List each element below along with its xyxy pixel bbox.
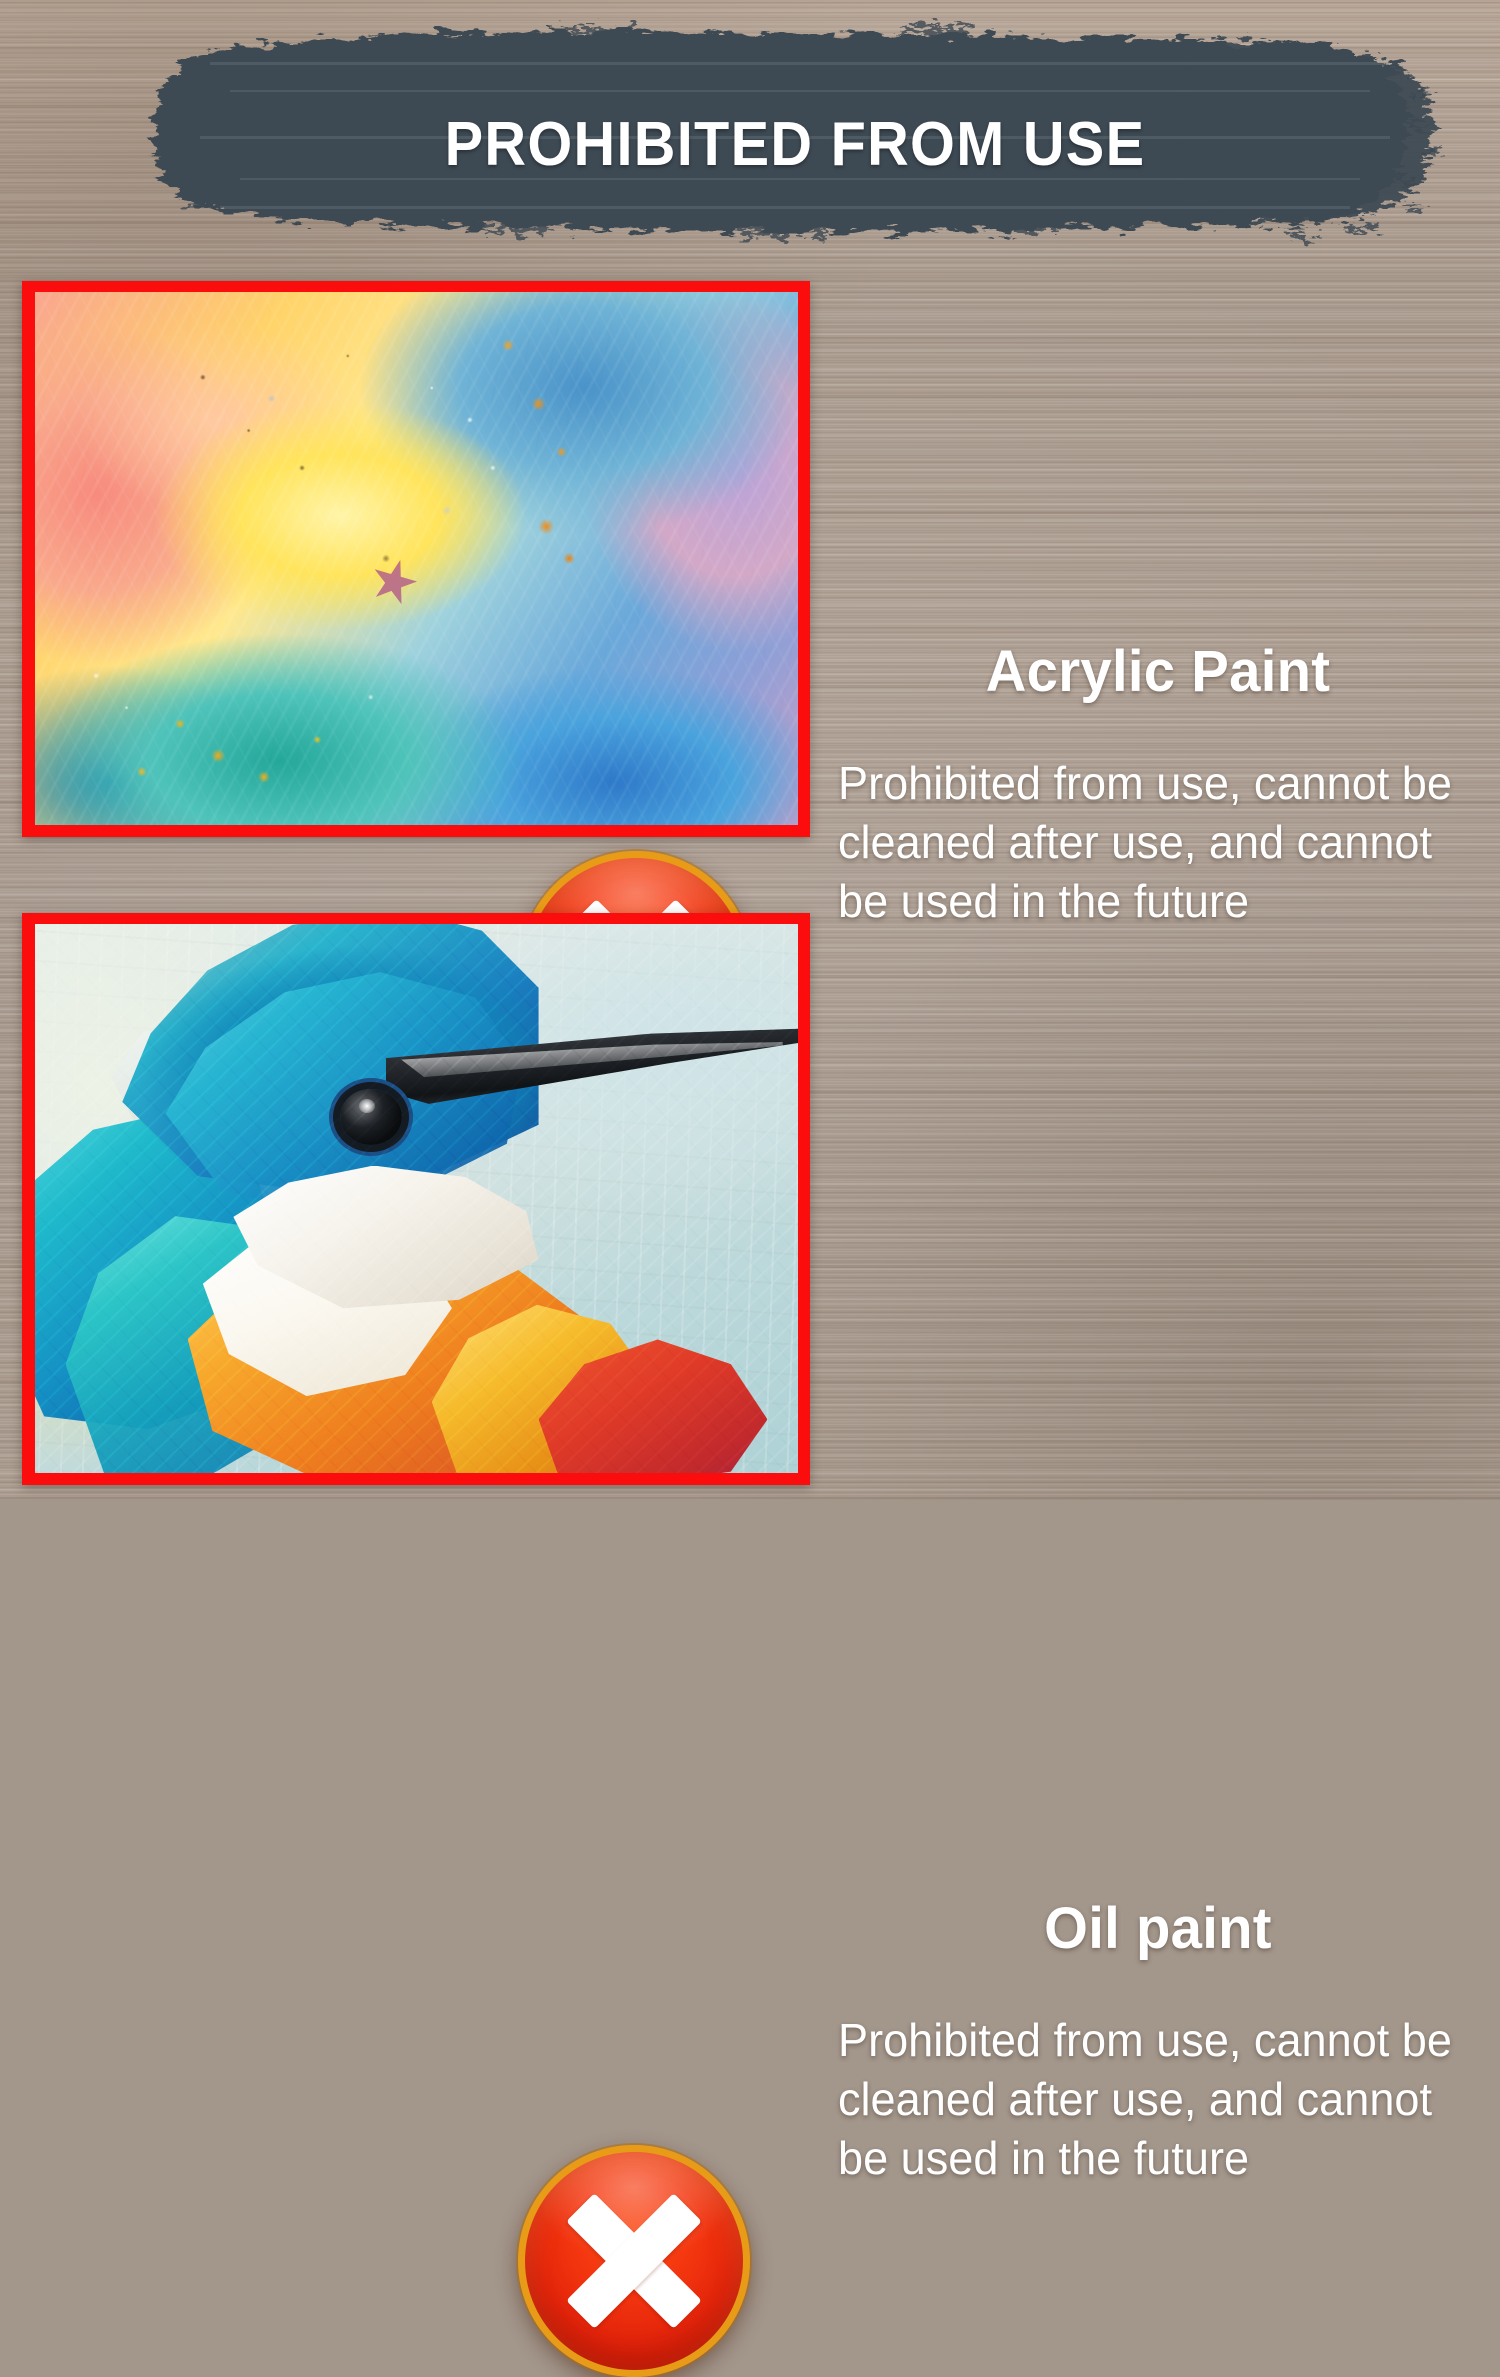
page-title: PROHIBITED FROM USE <box>186 114 1404 176</box>
card-title-oil: Oil paint <box>848 1898 1469 1959</box>
acrylic-text-column: Acrylic Paint Prohibited from use, canno… <box>838 641 1478 931</box>
product-image-frame-acrylic[interactable] <box>22 281 810 837</box>
card-body-acrylic: Prohibited from use, cannot be cleaned a… <box>838 754 1465 931</box>
header-banner: PROHIBITED FROM USE <box>140 18 1450 248</box>
product-image-frame-oil[interactable] <box>22 913 810 1485</box>
bird-eye <box>340 1089 402 1145</box>
card-title-acrylic: Acrylic Paint <box>848 641 1469 702</box>
painting-oil <box>35 924 798 1473</box>
bird-eye-highlight <box>359 1099 375 1113</box>
abstract-fluid-art-image <box>35 292 798 825</box>
card-oil-paint: Oil paint Prohibited from use, cannot be… <box>0 913 1500 1485</box>
x-mark-icon <box>518 2145 750 2377</box>
kingfisher-impasto-image <box>35 924 798 1473</box>
card-body-oil: Prohibited from use, cannot be cleaned a… <box>838 2011 1465 2188</box>
painting-acrylic <box>35 292 798 825</box>
card-acrylic-paint: Acrylic Paint Prohibited from use, canno… <box>0 281 1500 837</box>
oil-text-column: Oil paint Prohibited from use, cannot be… <box>838 1898 1478 2188</box>
